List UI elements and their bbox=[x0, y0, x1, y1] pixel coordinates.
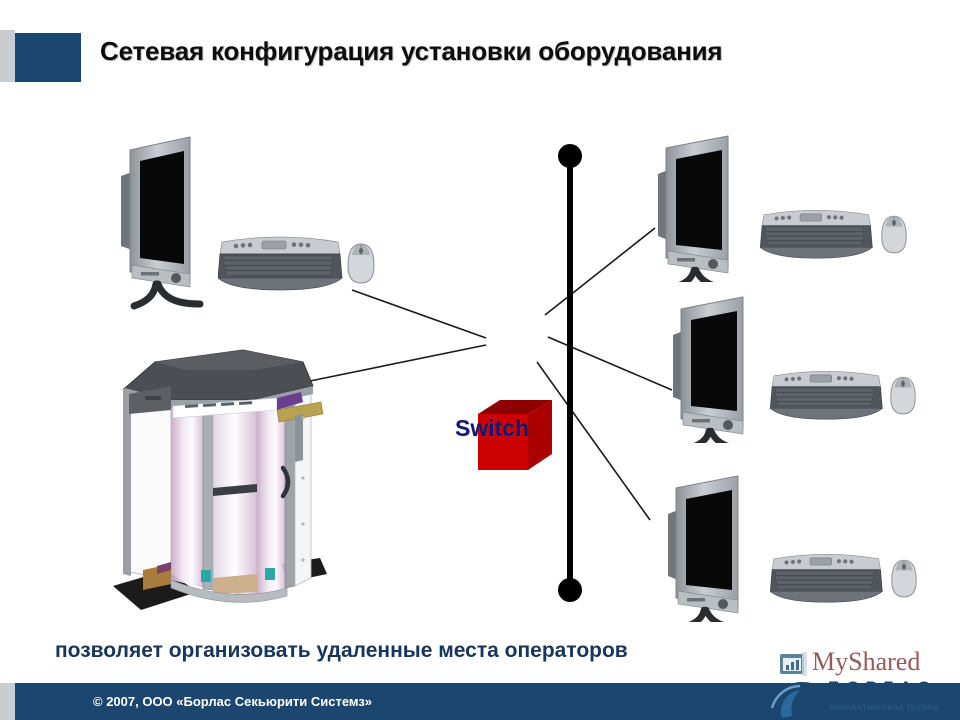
link-booth-switch bbox=[310, 345, 486, 381]
footer-gray-strip bbox=[0, 683, 15, 720]
page-title: Сетевая конфигурация установки оборудова… bbox=[100, 36, 722, 67]
network-diagram: Switch bbox=[0, 100, 960, 640]
backbone-node-top bbox=[558, 144, 582, 168]
copyright-text: © 2007, ООО «Борлас Секьюрити Системз» bbox=[93, 694, 372, 709]
keyboard-and-mouse-icon bbox=[218, 230, 348, 292]
borlas-subtitle: консалтинговая группа bbox=[830, 702, 938, 712]
link-switch-operator3 bbox=[548, 337, 672, 390]
mouse-icon bbox=[878, 214, 910, 256]
borlas-swirl-icon bbox=[770, 678, 832, 720]
booth-icon bbox=[105, 348, 330, 623]
myshared-logo-icon bbox=[778, 650, 808, 678]
switch-label: Switch bbox=[455, 415, 529, 442]
link-switch-operator4 bbox=[537, 362, 650, 520]
backbone-node-bottom bbox=[558, 578, 582, 602]
mouse-icon bbox=[344, 242, 378, 286]
keyboard-icon bbox=[770, 365, 888, 421]
security-booth[interactable] bbox=[105, 348, 330, 623]
myshared-suffix: Shared bbox=[848, 647, 920, 676]
header-accent-block bbox=[15, 33, 81, 82]
mouse-icon bbox=[888, 558, 920, 600]
mouse-icon bbox=[887, 375, 919, 417]
workstation-operator-1[interactable] bbox=[108, 132, 358, 317]
keyboard-icon bbox=[760, 204, 878, 260]
workstation-operator-3[interactable] bbox=[665, 293, 785, 448]
myshared-text: MyShared bbox=[812, 647, 920, 677]
monitor-icon bbox=[650, 132, 770, 282]
borlas-logo: БОРЛАС консалтинговая группа bbox=[770, 676, 960, 720]
tagline-text: позволяет организовать удаленные места о… bbox=[55, 639, 628, 663]
slide: Сетевая конфигурация установки оборудова… bbox=[0, 0, 960, 720]
monitor-icon bbox=[660, 472, 780, 622]
link-operator1-switch bbox=[352, 290, 486, 338]
workstation-operator-4[interactable] bbox=[660, 472, 780, 627]
myshared-prefix: My bbox=[812, 647, 848, 676]
link-switch-operator2 bbox=[545, 228, 655, 315]
keyboard-icon bbox=[770, 548, 888, 604]
header-gray-strip bbox=[0, 30, 15, 82]
myshared-watermark: MyShared bbox=[778, 648, 958, 682]
monitor-icon bbox=[665, 293, 785, 443]
workstation-operator-2[interactable] bbox=[650, 132, 770, 287]
